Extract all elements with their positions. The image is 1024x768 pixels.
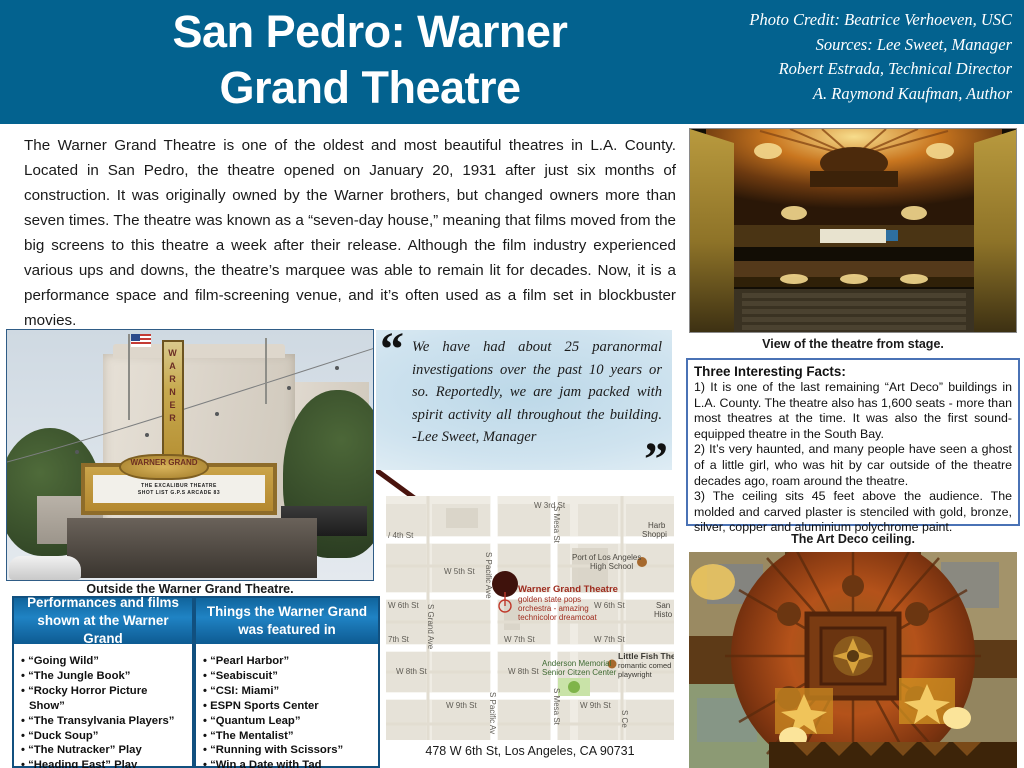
marquee-line-1: THE EXCALIBUR THEATRE [95,483,263,490]
list-item: “Running with Scissors” [203,743,372,758]
poster-root: San Pedro: Warner Grand Theatre Photo Cr… [0,0,1024,768]
list-item: “Rocky Horror Picture Show” [21,684,186,714]
page-title-line2: Grand Theatre [60,60,680,116]
svg-text:romantic comed: romantic comed [618,661,671,670]
table-featured-in-list: “Pearl Harbor” “Seabiscuit” “CSI: Miami”… [196,644,378,768]
photo-storefront [67,518,317,578]
intro-paragraph: The Warner Grand Theatre is one of the o… [24,133,676,333]
svg-text:W 6th St: W 6th St [594,601,625,610]
svg-text:/ 4th St: / 4th St [388,531,414,540]
fact-item-1: 1) It is one of the last remaining “Art … [694,380,1012,442]
svg-text:Histo: Histo [654,610,673,619]
list-item: “The Jungle Book” [21,669,186,684]
list-item: “Duck Soup” [21,729,186,744]
photo-outside-theatre: WARNER THE EXCALIBUR THEATRE SHOT LIST G… [6,329,374,581]
photo-flagpole [128,334,130,420]
svg-text:W 9th St: W 9th St [446,701,477,710]
svg-text:W 6th St: W 6th St [388,601,419,610]
photo-marquee-text: THE EXCALIBUR THEATRE SHOT LIST G.P.S AR… [95,483,263,497]
svg-text:San: San [656,601,670,610]
svg-text:orchestra - amazing: orchestra - amazing [518,604,589,613]
fact-item-2: 2) It’s very haunted, and many people ha… [694,442,1012,489]
credit-source-3: A. Raymond Kaufman, Author [612,82,1012,107]
photo-marquee-name: WARNER GRAND [119,454,209,480]
quote-open-icon: “ [380,326,404,374]
ceiling-illustration [689,552,1017,768]
list-item: “The Nutracker” Play [21,743,186,758]
photo-us-flag [131,334,151,347]
list-item: “Heading East” Play [21,758,186,768]
photo-art-deco-ceiling [689,552,1017,768]
svg-text:S Ce: S Ce [620,710,629,728]
svg-text:Shoppi: Shoppi [642,530,667,539]
quote-close-icon: ” [644,436,668,484]
svg-text:technicolor dreamcoat: technicolor dreamcoat [518,613,597,622]
photo-pole-right [265,338,267,404]
list-item: “The Mentalist” [203,729,372,744]
table-featured-in: Things the Warner Grand was featured in … [194,596,380,768]
caption-map-address: 478 W 6th St, Los Angeles, CA 90731 [386,744,674,758]
photo-vertical-sign: WARNER [162,340,184,466]
table-performances-list: “Going Wild” “The Jungle Book” “Rocky Ho… [14,644,192,768]
svg-text:playwright: playwright [618,670,653,679]
caption-ceiling: The Art Deco ceiling. [689,532,1017,546]
map-canvas: W 3rd St / 4th St W 5th St W 6th St W 6t… [386,496,674,740]
svg-text:7th St: 7th St [388,635,410,644]
caption-interior: View of the theatre from stage. [689,337,1017,351]
pull-quote-box: “ We have had about 25 paranormal invest… [376,330,672,470]
header-banner: San Pedro: Warner Grand Theatre Photo Cr… [0,0,1024,124]
svg-text:S Mesa St: S Mesa St [552,688,561,726]
svg-text:High School: High School [590,562,633,571]
svg-text:Senior Citzen Center: Senior Citzen Center [542,668,617,677]
marquee-line-2: SHOT LIST G.P.S ARCADE 83 [95,490,263,497]
svg-text:W 7th St: W 7th St [594,635,625,644]
list-item: ESPN Sports Center [203,699,372,714]
svg-text:Warner Grand Theatre: Warner Grand Theatre [518,584,618,595]
svg-text:W 8th St: W 8th St [508,667,539,676]
svg-text:Anderson Memorial: Anderson Memorial [542,659,612,668]
list-item: “Pearl Harbor” [203,654,372,669]
page-title-line1: San Pedro: Warner [60,4,680,60]
credit-photo: Photo Credit: Beatrice Verhoeven, USC [612,8,1012,33]
list-item: “Win a Date with Tad Hamilton!” [203,758,372,768]
quote-text: We have had about 25 paranormal investig… [412,336,662,449]
table-performances: Performances and films shown at the Warn… [12,596,194,768]
table-performances-header: Performances and films shown at the Warn… [14,598,192,644]
photo-interior-auditorium [689,128,1017,333]
photo-car [9,556,81,580]
svg-text:W 9th St: W 9th St [580,701,611,710]
svg-text:Little Fish The: Little Fish The [618,651,674,661]
interior-illustration [690,129,1017,333]
svg-text:S Grand Ave: S Grand Ave [426,604,435,650]
svg-text:W 8th St: W 8th St [396,667,427,676]
svg-text:S Pacific Av: S Pacific Av [488,692,497,734]
list-item: “The Transylvania Players” [21,714,186,729]
svg-text:W 5th St: W 5th St [444,567,475,576]
svg-text:S Pacific Ave: S Pacific Ave [484,552,493,599]
credits-block: Photo Credit: Beatrice Verhoeven, USC So… [612,8,1012,106]
list-item: “Quantum Leap” [203,714,372,729]
list-item: “Going Wild” [21,654,186,669]
svg-text:Port of Los Angeles: Port of Los Angeles [572,553,641,562]
list-item: “CSI: Miami” [203,684,372,699]
fact-item-3: 3) The ceiling sits 45 feet above the au… [694,489,1012,536]
list-item: “Seabiscuit” [203,669,372,684]
svg-text:golden state pops: golden state pops [518,595,581,604]
svg-text:Harb: Harb [648,521,666,530]
table-featured-in-header: Things the Warner Grand was featured in [196,598,378,644]
facts-title: Three Interesting Facts: [694,363,1012,380]
svg-text:W 7th St: W 7th St [504,635,535,644]
location-map[interactable]: W 3rd St / 4th St W 5th St W 6th St W 6t… [386,496,674,740]
credit-source-1: Sources: Lee Sweet, Manager [612,33,1012,58]
credit-source-2: Robert Estrada, Technical Director [612,57,1012,82]
facts-box: Three Interesting Facts: 1) It is one of… [686,358,1020,526]
page-title: San Pedro: Warner Grand Theatre [60,4,680,116]
svg-text:S Mesa St: S Mesa St [552,506,561,544]
